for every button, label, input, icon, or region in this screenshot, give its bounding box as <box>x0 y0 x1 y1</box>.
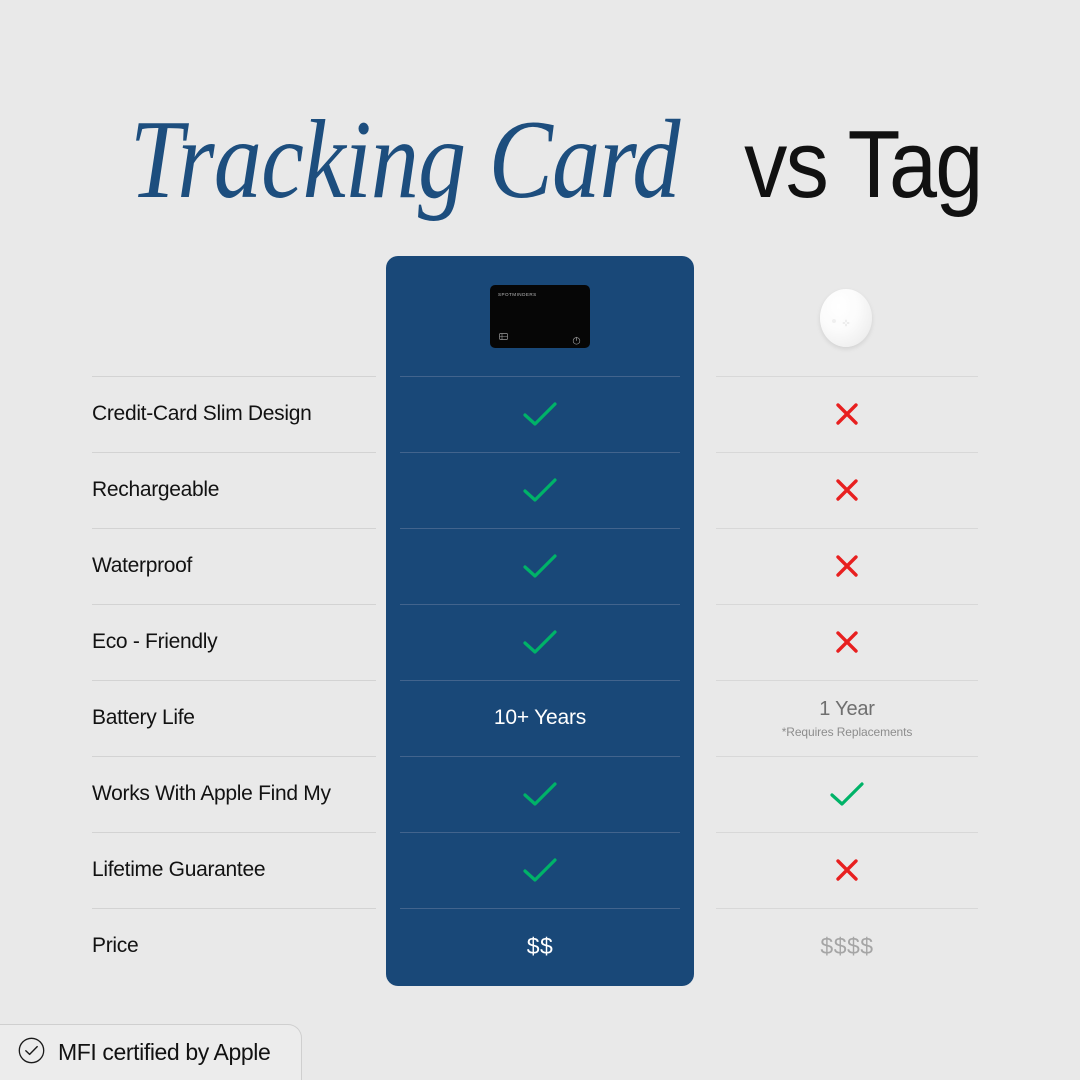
mfi-badge-label: MFI certified by Apple <box>58 1039 270 1066</box>
card-battery-value: 10+ Years <box>494 706 586 730</box>
power-icon <box>572 332 581 341</box>
card-price-value: $$ <box>527 933 554 960</box>
card-value-check <box>386 452 694 528</box>
table-row: Lifetime Guarantee <box>0 832 1080 908</box>
table-row: Waterproof <box>0 528 1080 604</box>
feature-label: Works With Apple Find My <box>92 756 376 832</box>
card-value-price: $$ <box>386 908 694 984</box>
feature-label: Rechargeable <box>92 452 376 528</box>
feature-label: Waterproof <box>92 528 376 604</box>
tag-battery-value: 1 Year <box>819 698 875 721</box>
table-row: Eco - Friendly <box>0 604 1080 680</box>
feature-label: Credit-Card Slim Design <box>92 376 376 452</box>
page-title: Tracking Cardvs Tag <box>0 96 1080 225</box>
tag-value-check <box>704 756 990 832</box>
feature-label: Lifetime Guarantee <box>92 832 376 908</box>
mfi-certified-badge: MFI certified by Apple <box>0 1024 302 1080</box>
product-brand-label: SPOTMINDERS <box>498 292 537 297</box>
card-value-check <box>386 604 694 680</box>
check-circle-icon <box>18 1037 45 1069</box>
tag-value-cross <box>704 832 990 908</box>
tag-value-price: $$$$ <box>704 908 990 984</box>
title-plain-part: vs Tag <box>744 110 981 220</box>
card-value-check <box>386 832 694 908</box>
card-value-text: 10+ Years <box>386 680 694 756</box>
table-row: Credit-Card Slim Design <box>0 376 1080 452</box>
table-row: Price $$ $$$$ <box>0 908 1080 984</box>
table-row: Works With Apple Find My <box>0 756 1080 832</box>
card-value-check <box>386 376 694 452</box>
tag-speaker-dot <box>832 319 836 323</box>
tag-value-text: 1 Year *Requires Replacements <box>704 680 990 756</box>
tag-value-cross <box>704 376 990 452</box>
product-image-tag <box>820 289 872 347</box>
tag-value-cross <box>704 528 990 604</box>
feature-label: Battery Life <box>92 680 376 756</box>
title-script-part: Tracking Card <box>130 96 680 225</box>
card-value-check <box>386 528 694 604</box>
tag-value-cross <box>704 604 990 680</box>
sim-chip-icon <box>499 333 508 340</box>
feature-label: Eco - Friendly <box>92 604 376 680</box>
tag-battery-note: *Requires Replacements <box>782 725 913 739</box>
tag-price-value: $$$$ <box>820 933 873 960</box>
comparison-table: Credit-Card Slim Design Rechargeable <box>0 376 1080 984</box>
comparison-infographic: Tracking Cardvs Tag SPOTMINDERS <box>0 0 1080 1080</box>
feature-label: Price <box>92 908 376 984</box>
apple-logo-icon <box>842 314 850 322</box>
card-value-check <box>386 756 694 832</box>
table-row: Rechargeable <box>0 452 1080 528</box>
product-image-tracking-card: SPOTMINDERS <box>490 285 590 348</box>
table-row: Battery Life 10+ Years 1 Year *Requires … <box>0 680 1080 756</box>
tag-value-cross <box>704 452 990 528</box>
